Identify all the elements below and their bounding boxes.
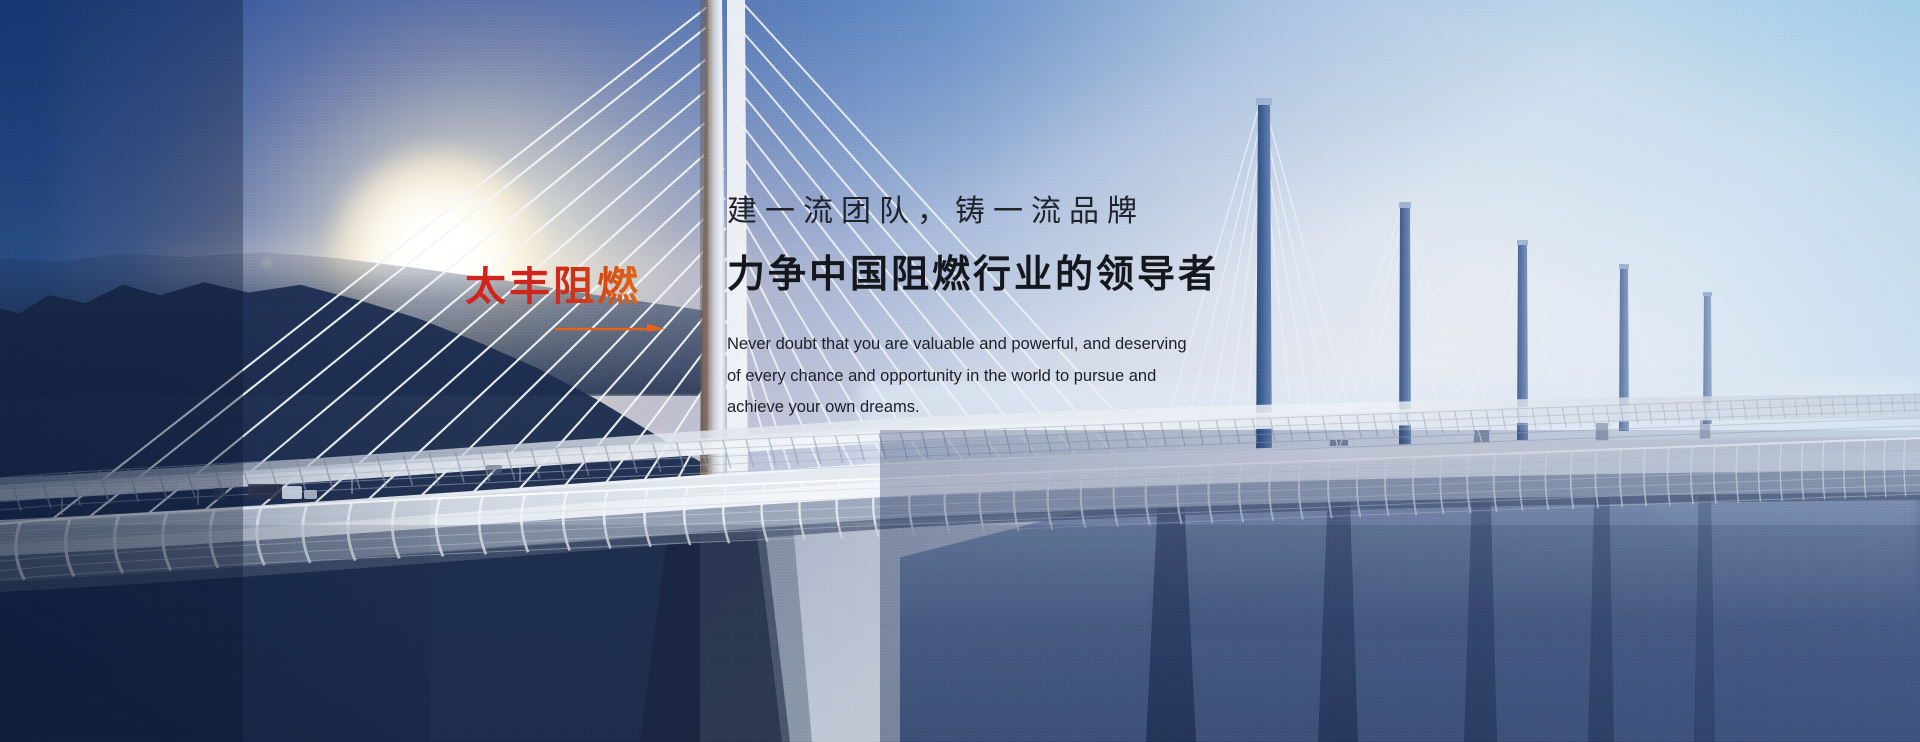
headline-group: 建一流团队，铸一流品牌 力争中国阻燃行业的领导者 (727, 192, 1219, 299)
brand-logo-text: 太丰阻燃 (465, 266, 641, 307)
arrow-right-icon (555, 321, 665, 337)
hero-banner: 太丰阻燃 建一流团队，铸一流品牌 力争中国阻燃行业的领导者 Never doub… (0, 0, 1920, 742)
brand-logo[interactable]: 太丰阻燃 (465, 266, 641, 307)
description-paragraph: Never doubt that you are valuable and po… (727, 329, 1197, 424)
headline-subtitle: 建一流团队，铸一流品牌 (727, 192, 1219, 233)
description-line-3: achieve your own dreams. (727, 392, 1197, 424)
description-line-1: Never doubt that you are valuable and po… (727, 329, 1197, 361)
banner-content: 太丰阻燃 建一流团队，铸一流品牌 力争中国阻燃行业的领导者 Never doub… (0, 0, 1920, 742)
headline-title: 力争中国阻燃行业的领导者 (727, 249, 1219, 299)
description-line-2: of every chance and opportunity in the w… (727, 361, 1197, 393)
